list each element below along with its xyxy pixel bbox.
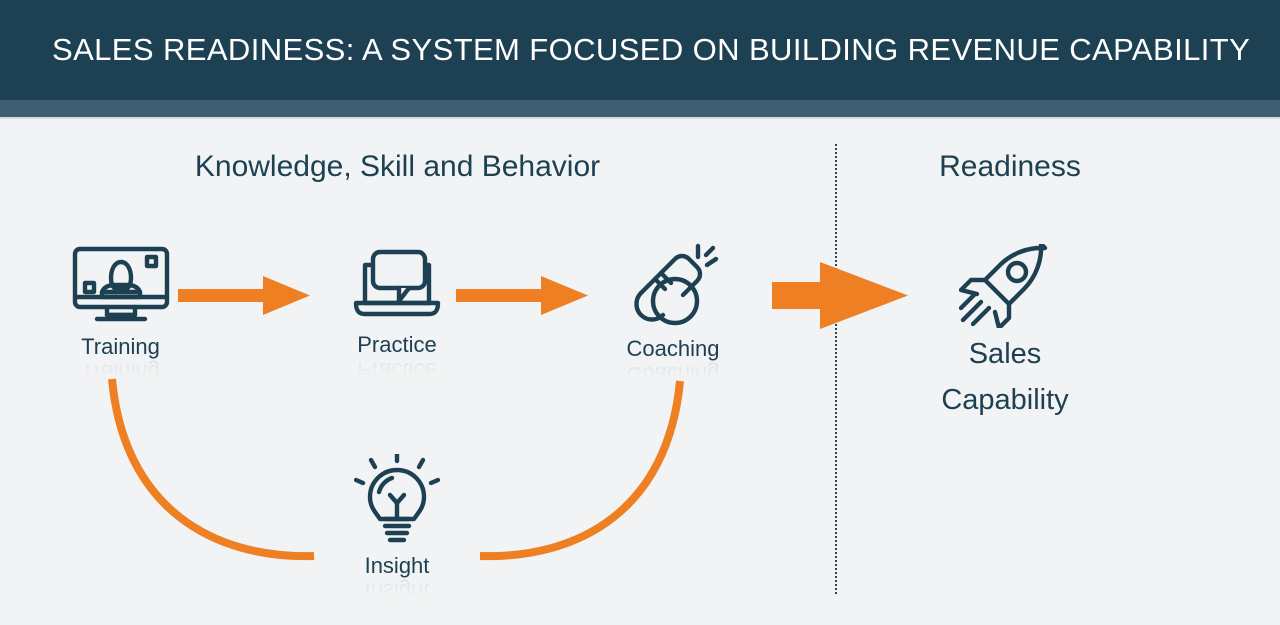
node-training[interactable]: Training Training <box>38 245 203 384</box>
monitor-person-icon <box>71 245 171 327</box>
node-label-coaching: Coaching <box>592 337 754 361</box>
curve-insight-to-coaching <box>480 381 680 556</box>
page-title: SALES READINESS: A SYSTEM FOCUSED ON BUI… <box>0 32 1250 68</box>
node-label-practice: Practice <box>318 333 476 357</box>
section-heading-knowledge: Knowledge, Skill and Behavior <box>0 150 795 184</box>
node-insight[interactable]: Insight Insight <box>318 454 476 603</box>
header-accent-band <box>0 100 1280 117</box>
node-label-reflection-coaching: Coaching <box>592 362 754 386</box>
node-label-training: Training <box>38 335 203 359</box>
node-label-reflection-training: Training <box>38 360 203 384</box>
rocket-icon <box>959 244 1051 328</box>
node-label-reflection-practice: Practice <box>318 358 476 382</box>
diagram-stage: Knowledge, Skill and Behavior Readiness <box>0 119 1280 625</box>
curve-training-to-insight <box>112 379 314 556</box>
section-heading-readiness: Readiness <box>845 150 1175 184</box>
header-bar: SALES READINESS: A SYSTEM FOCUSED ON BUI… <box>0 0 1280 100</box>
node-label-capability: Capability <box>910 382 1100 420</box>
arrow-coaching-to-readiness <box>772 262 908 329</box>
node-practice[interactable]: Practice Practice <box>318 247 476 382</box>
lightbulb-icon <box>354 454 440 546</box>
node-label-sales: Sales <box>910 336 1100 374</box>
laptop-speech-bubble-icon <box>351 247 443 325</box>
whistle-icon <box>627 243 719 329</box>
slide: SALES READINESS: A SYSTEM FOCUSED ON BUI… <box>0 0 1280 625</box>
node-sales-capability[interactable]: Sales Capability <box>910 244 1100 419</box>
section-divider <box>835 144 837 594</box>
node-label-reflection-insight: Insight <box>318 579 476 603</box>
node-coaching[interactable]: Coaching Coaching <box>592 243 754 386</box>
node-label-insight: Insight <box>318 554 476 578</box>
